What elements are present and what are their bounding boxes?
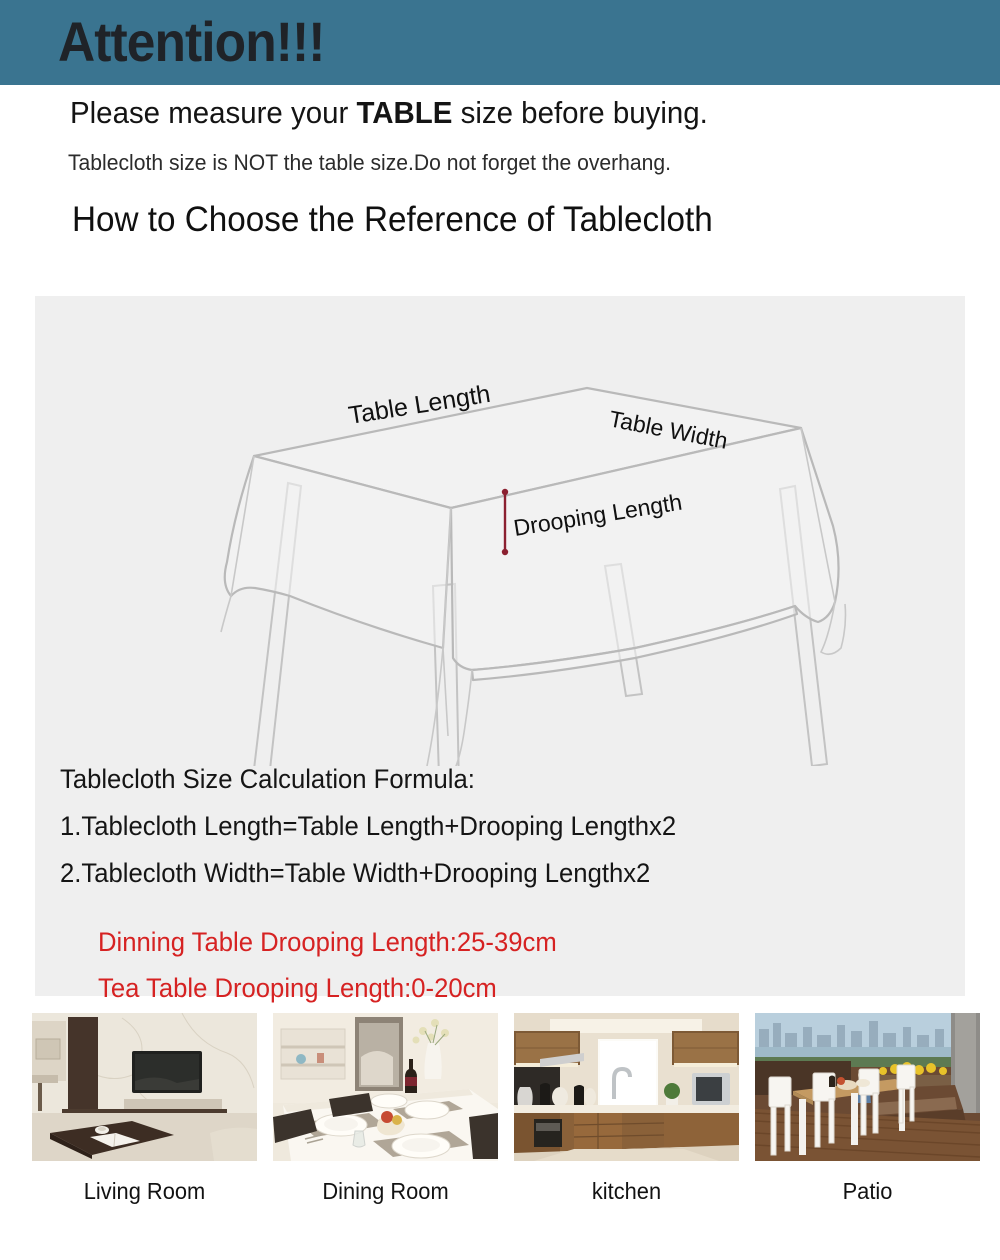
- dining-room-photo: [273, 1013, 498, 1161]
- caption-living-room: Living Room: [38, 1178, 252, 1205]
- measure-instruction: Please measure your TABLE size before bu…: [70, 95, 708, 131]
- thumbnail-dining-room[interactable]: Dining Room: [273, 1013, 498, 1205]
- measure-instruction-suffix: size before buying.: [452, 95, 707, 130]
- dinning-table-drooping: Dinning Table Drooping Length:25-39cm: [98, 919, 898, 965]
- diagram-panel: Table Length Table Width Drooping Length…: [35, 296, 965, 996]
- patio-photo: [755, 1013, 980, 1161]
- caption-patio: Patio: [761, 1178, 975, 1205]
- formula-block: Tablecloth Size Calculation Formula: 1.T…: [60, 756, 940, 1011]
- living-room-photo: [32, 1013, 257, 1161]
- attention-banner: Attention!!!: [0, 0, 1000, 85]
- kitchen-photo: [514, 1013, 739, 1161]
- thumbnail-living-room[interactable]: Living Room: [32, 1013, 257, 1205]
- overhang-note: Tablecloth size is NOT the table size.Do…: [68, 150, 671, 176]
- formula-spacer: [60, 897, 940, 919]
- caption-kitchen: kitchen: [520, 1178, 734, 1205]
- formula-line-2: 2.Tablecloth Width=Table Width+Drooping …: [60, 850, 896, 897]
- scene-thumbnail-row: Living Room: [32, 1013, 968, 1205]
- formula-heading: Tablecloth Size Calculation Formula:: [60, 756, 896, 803]
- caption-dining-room: Dining Room: [279, 1178, 493, 1205]
- formula-line-1: 1.Tablecloth Length=Table Length+Droopin…: [60, 803, 896, 850]
- section-title: How to Choose the Reference of Tableclot…: [72, 200, 713, 240]
- tablecloth-diagram: Table Length Table Width Drooping Length: [35, 296, 965, 766]
- thumbnail-kitchen[interactable]: kitchen: [514, 1013, 739, 1205]
- tea-table-drooping: Tea Table Drooping Length:0-20cm: [98, 965, 898, 1011]
- thumbnail-patio[interactable]: Patio: [755, 1013, 980, 1205]
- measure-instruction-emphasis: TABLE: [356, 95, 452, 130]
- banner-title: Attention!!!: [58, 8, 324, 76]
- measure-instruction-prefix: Please measure your: [70, 95, 356, 130]
